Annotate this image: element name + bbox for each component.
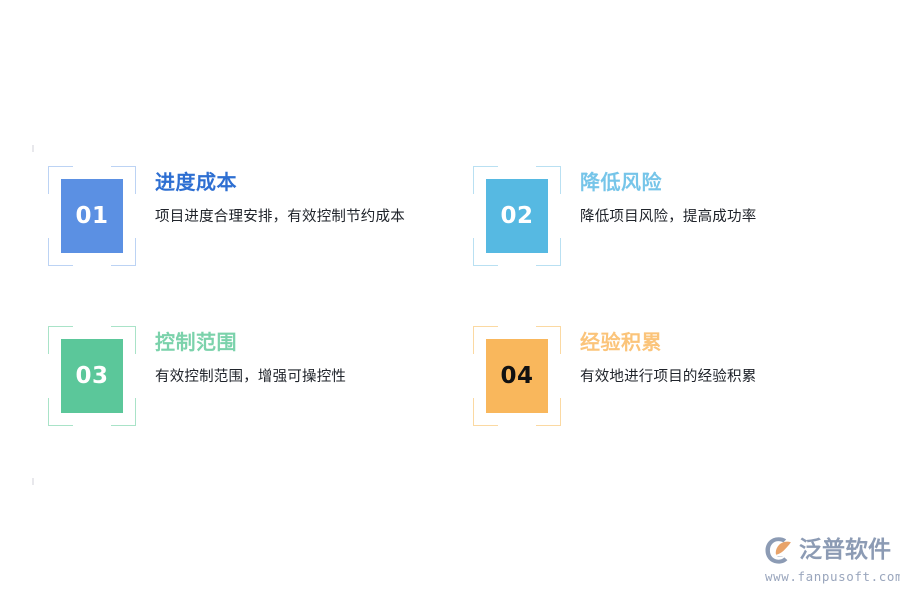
feature-description-01: 项目进度合理安排，有效控制节约成本 [155,205,423,230]
number-box-04: 04 [486,339,548,413]
feature-description-03: 有效控制范围，增强可操控性 [155,365,423,390]
feature-card-04: 04 经验积累 有效地进行项目的经验积累 [473,326,848,426]
infographic-canvas: 01 进度成本 项目进度合理安排，有效控制节约成本 02 降低风险 降低项目风险… [0,0,900,600]
feature-card-03: 03 控制范围 有效控制范围，增强可操控性 [48,326,423,426]
text-block-01: 进度成本 项目进度合理安排，有效控制节约成本 [155,166,423,230]
badge-01: 01 [48,166,136,266]
text-block-04: 经验积累 有效地进行项目的经验积累 [580,326,848,390]
number-label-02: 02 [500,205,533,228]
watermark-url: www.fanpusoft.com [765,569,894,584]
badge-03: 03 [48,326,136,426]
text-block-03: 控制范围 有效控制范围，增强可操控性 [155,326,423,390]
badge-04: 04 [473,326,561,426]
number-box-03: 03 [61,339,123,413]
fanpu-logo-icon [764,535,796,566]
feature-title-01: 进度成本 [155,170,423,194]
badge-02: 02 [473,166,561,266]
number-label-01: 01 [75,205,108,228]
number-box-02: 02 [486,179,548,253]
watermark-brand-row: 泛普软件 [764,533,894,567]
number-label-03: 03 [75,365,108,388]
text-block-02: 降低风险 降低项目风险，提高成功率 [580,166,848,230]
feature-card-01: 01 进度成本 项目进度合理安排，有效控制节约成本 [48,166,423,266]
watermark-brand-text: 泛普软件 [799,539,891,562]
feature-grid: 01 进度成本 项目进度合理安排，有效控制节约成本 02 降低风险 降低项目风险… [0,0,900,600]
feature-title-03: 控制范围 [155,330,423,354]
feature-description-02: 降低项目风险，提高成功率 [580,205,848,230]
feature-title-02: 降低风险 [580,170,848,194]
feature-title-04: 经验积累 [580,330,848,354]
number-label-04: 04 [500,365,533,388]
feature-description-04: 有效地进行项目的经验积累 [580,365,848,390]
number-box-01: 01 [61,179,123,253]
watermark: 泛普软件 www.fanpusoft.com [764,533,894,591]
feature-card-02: 02 降低风险 降低项目风险，提高成功率 [473,166,848,266]
